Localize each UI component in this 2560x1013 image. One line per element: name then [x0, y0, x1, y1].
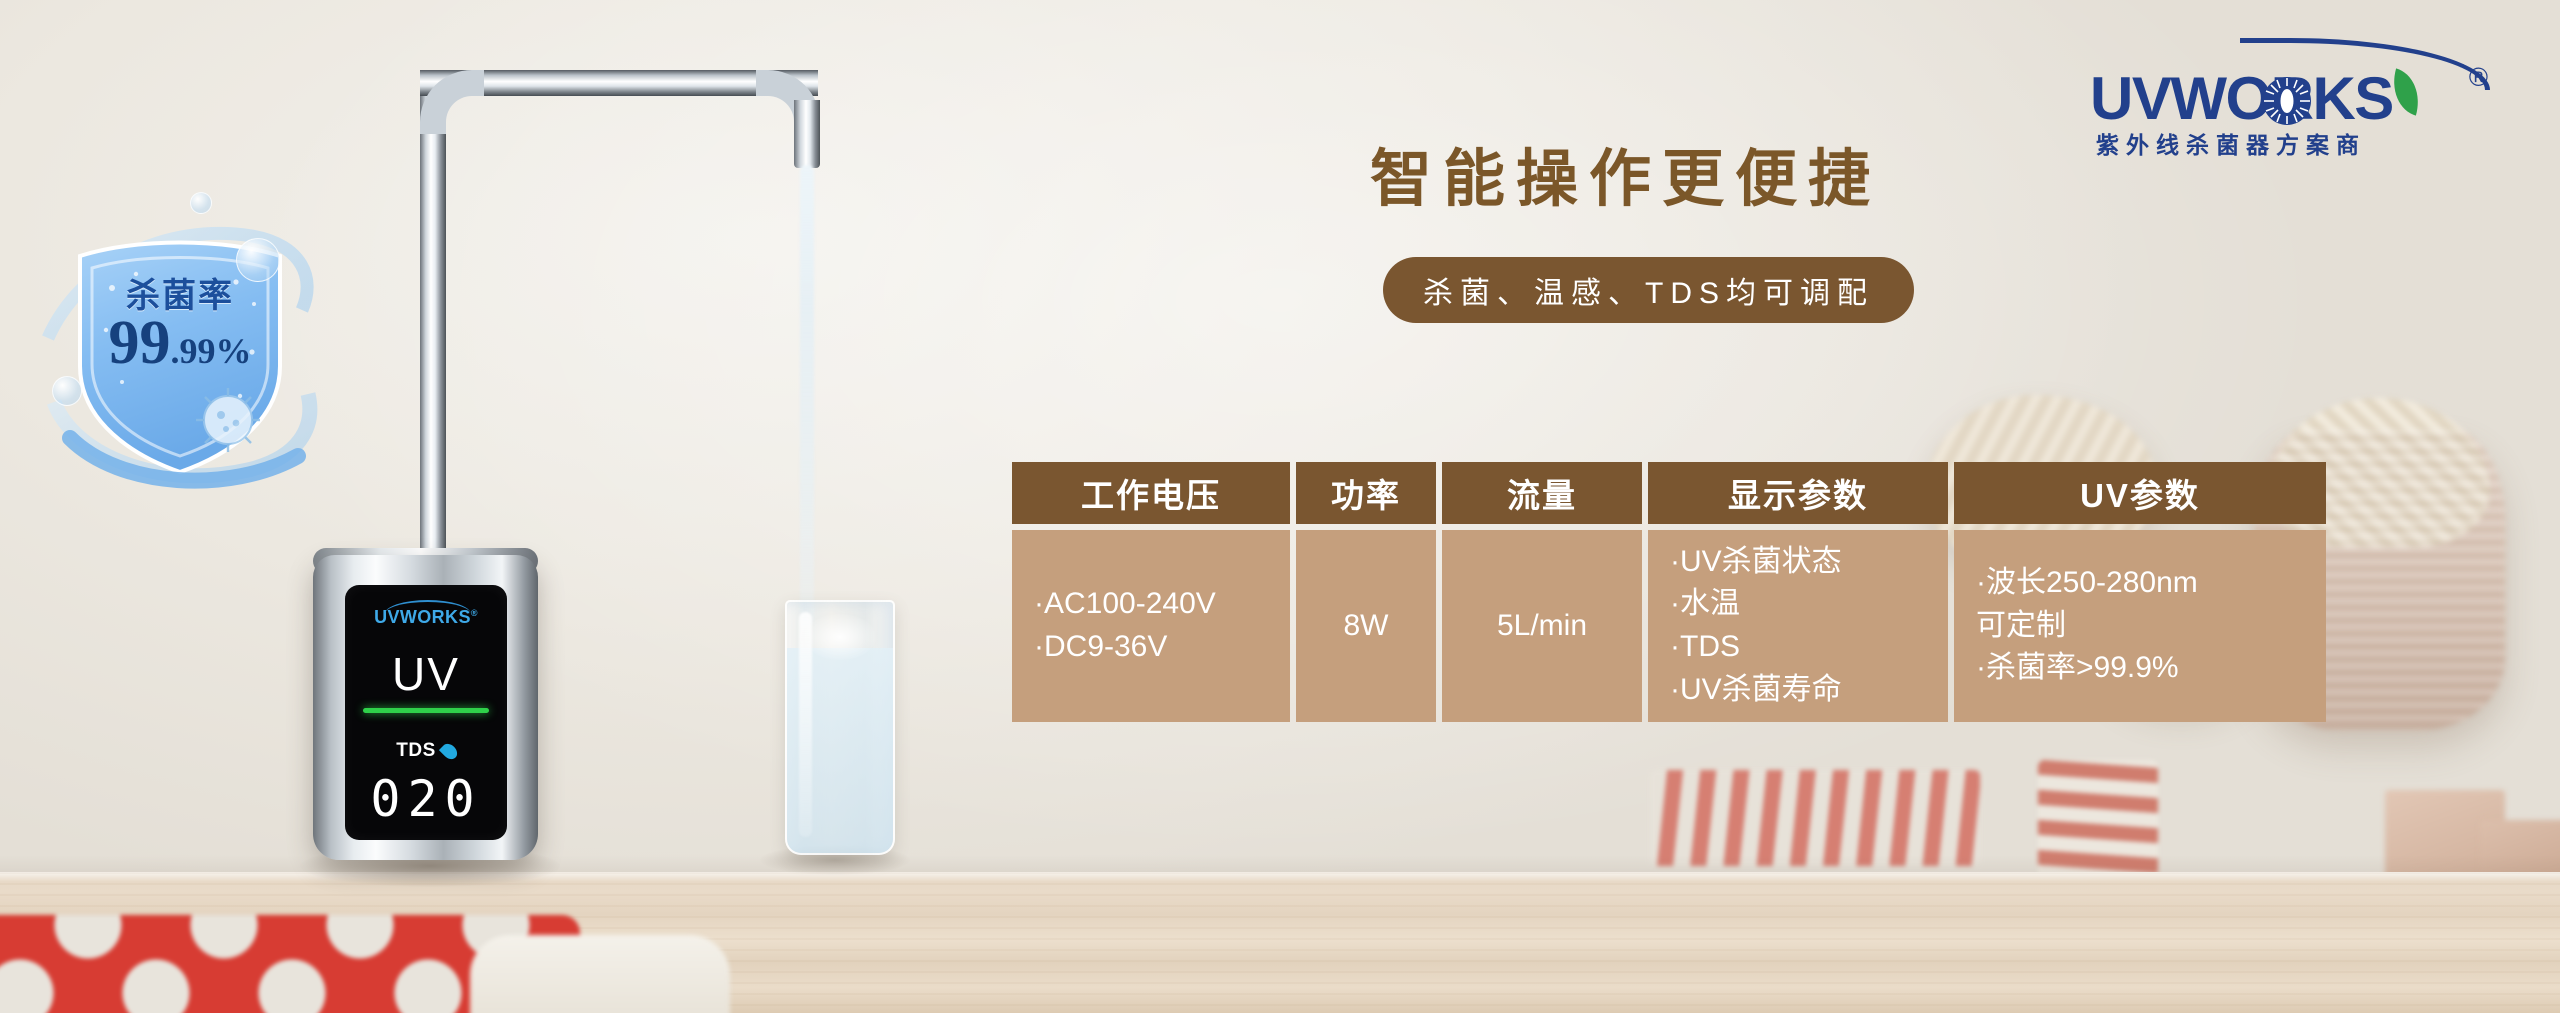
- bowl-prop: [470, 935, 730, 1013]
- spec-column-voltage: 工作电压 ·AC100-240V ·DC9-36V: [1012, 462, 1290, 722]
- glass-highlight: [799, 612, 812, 837]
- spec-header-voltage: 工作电压: [1012, 462, 1290, 524]
- brand-wordmark: UVWORKS: [2090, 64, 2393, 133]
- spec-line: ·水温: [1670, 583, 1740, 626]
- spec-column-uv: UV参数 ·波长250-280nm 可定制 ·杀菌率>99.9%: [1954, 462, 2326, 722]
- spec-column-power: 功率 8W: [1296, 462, 1436, 722]
- sterilization-rate-badge: 杀菌率 99.99%: [40, 170, 320, 500]
- device-tds-row: TDS: [345, 740, 507, 762]
- water-droplet-icon: [439, 740, 460, 761]
- spec-line: 8W: [1344, 605, 1389, 648]
- bubble-icon: [190, 192, 212, 214]
- water-splash: [804, 614, 876, 660]
- water-glass: [785, 600, 895, 855]
- registered-mark: ®: [2469, 62, 2488, 93]
- page-title: 智能操作更便捷: [1370, 128, 1881, 218]
- badge-label: 杀菌率: [40, 268, 320, 317]
- spec-line: ·波长250-280nm: [1976, 562, 2198, 605]
- spec-column-flow: 流量 5L/min: [1442, 462, 1642, 722]
- spec-body-display: ·UV杀菌状态 ·水温 ·TDS ·UV杀菌寿命: [1648, 530, 1948, 722]
- device-tds-label: TDS: [396, 740, 436, 762]
- registered-mark: ®: [471, 608, 478, 618]
- spec-header-display: 显示参数: [1648, 462, 1948, 524]
- spec-line: ·杀菌率>99.9%: [1976, 647, 2179, 690]
- water-stream: [800, 165, 814, 625]
- spec-body-flow: 5L/min: [1442, 530, 1642, 722]
- bubble-icon: [52, 376, 82, 406]
- spec-line: ·AC100-240V: [1034, 583, 1216, 626]
- spec-line: ·UV杀菌寿命: [1670, 669, 1842, 712]
- brand-tagline: 紫外线杀菌器方案商: [2096, 126, 2366, 160]
- device-screen[interactable]: UVWORKS® UV TDS 020: [345, 585, 507, 840]
- spec-line: ·TDS: [1670, 626, 1740, 669]
- spec-header-uv: UV参数: [1954, 462, 2326, 524]
- spec-line: 可定制: [1976, 605, 2066, 648]
- faucet-left-riser: [420, 70, 446, 570]
- badge-value-decimal: .99%: [171, 331, 252, 371]
- device-tds-value: 020: [345, 770, 507, 828]
- striped-cloth-prop: [1650, 770, 1980, 866]
- spec-line: ·DC9-36V: [1034, 626, 1167, 669]
- device-status-bar: [363, 708, 489, 713]
- spec-header-flow: 流量: [1442, 462, 1642, 524]
- spec-body-uv: ·波长250-280nm 可定制 ·杀菌率>99.9%: [1954, 530, 2326, 722]
- spec-body-voltage: ·AC100-240V ·DC9-36V: [1012, 530, 1290, 722]
- device-screen-logo: UVWORKS®: [345, 607, 507, 628]
- spec-body-power: 8W: [1296, 530, 1436, 722]
- spec-table: 工作电压 ·AC100-240V ·DC9-36V 功率 8W 流量 5L/mi…: [1012, 462, 2326, 722]
- spec-line: ·UV杀菌状态: [1670, 541, 1842, 584]
- brand-logo: UVWORKS ® 紫外线杀菌器方案商: [2090, 36, 2490, 148]
- sunburst-icon: [2262, 76, 2312, 126]
- swoosh-arc-icon: [385, 600, 471, 614]
- spec-column-display: 显示参数 ·UV杀菌状态 ·水温 ·TDS ·UV杀菌寿命: [1648, 462, 1948, 722]
- badge-value-integer: 99: [109, 309, 171, 377]
- spec-line: 5L/min: [1497, 605, 1587, 648]
- product-banner: UVWORKS® UV TDS 020: [0, 0, 2560, 1013]
- faucet-spout: [794, 100, 820, 168]
- spec-header-power: 功率: [1296, 462, 1436, 524]
- badge-value: 99.99%: [40, 312, 320, 374]
- subtitle-pill: 杀菌、温感、TDS均可调配: [1383, 257, 1914, 323]
- device-mode-label: UV: [345, 647, 507, 701]
